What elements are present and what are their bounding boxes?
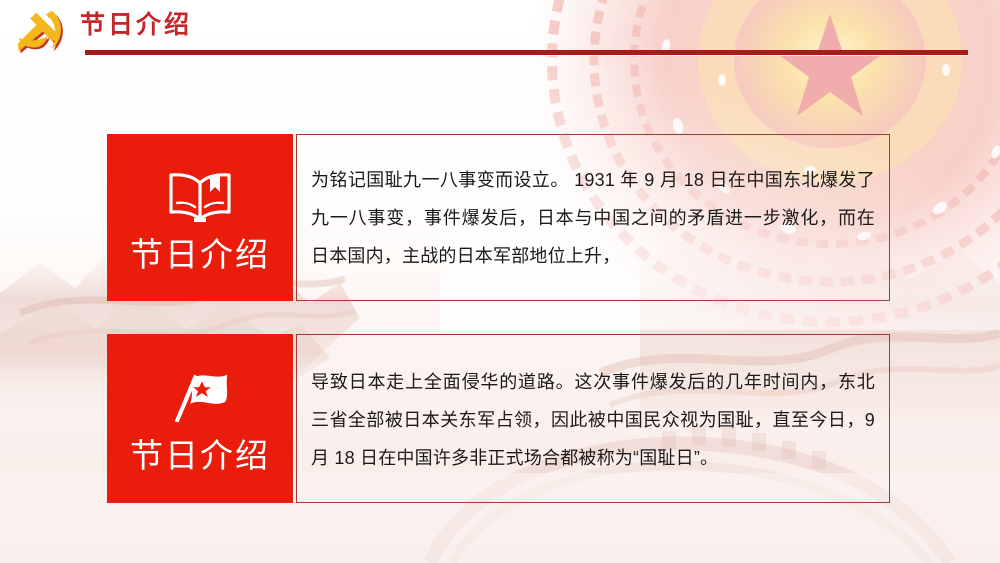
party-emblem-hammer-sickle-icon — [8, 4, 70, 60]
section-text-box-2: 导致日本走上全面侵华的道路。这次事件爆发后的几年时间内，东北三省全部被日本关东军… — [296, 334, 890, 503]
page-title: 节日介绍 — [80, 9, 192, 41]
waving-flag-star-icon — [163, 367, 237, 427]
slide-canvas: 节日介绍 — [0, 0, 1000, 563]
open-book-icon — [163, 166, 237, 226]
section-text-box-1: 为铭记国耻九一八事变而设立。 1931 年 9 月 18 日在中国东北爆发了九一… — [296, 134, 890, 301]
section-body-text: 为铭记国耻九一八事变而设立。 1931 年 9 月 18 日在中国东北爆发了九一… — [297, 161, 889, 275]
section-body-text: 导致日本走上全面侵华的道路。这次事件爆发后的几年时间内，东北三省全部被日本关东军… — [297, 361, 889, 477]
section-label-box-1: 节日介绍 — [107, 134, 293, 301]
section-label-box-2: 节日介绍 — [107, 334, 293, 503]
content-row-1: 节日介绍 为铭记国耻九一八事变而设立。 1931 年 9 月 18 日在中国东北… — [107, 134, 890, 301]
section-label-text: 节日介绍 — [130, 236, 270, 274]
content-row-2: 节日介绍 导致日本走上全面侵华的道路。这次事件爆发后的几年时间内，东北三省全部被… — [107, 334, 890, 503]
slide-header: 节日介绍 — [0, 0, 1000, 62]
header-divider-rule — [85, 50, 968, 55]
section-label-text: 节日介绍 — [130, 437, 270, 475]
